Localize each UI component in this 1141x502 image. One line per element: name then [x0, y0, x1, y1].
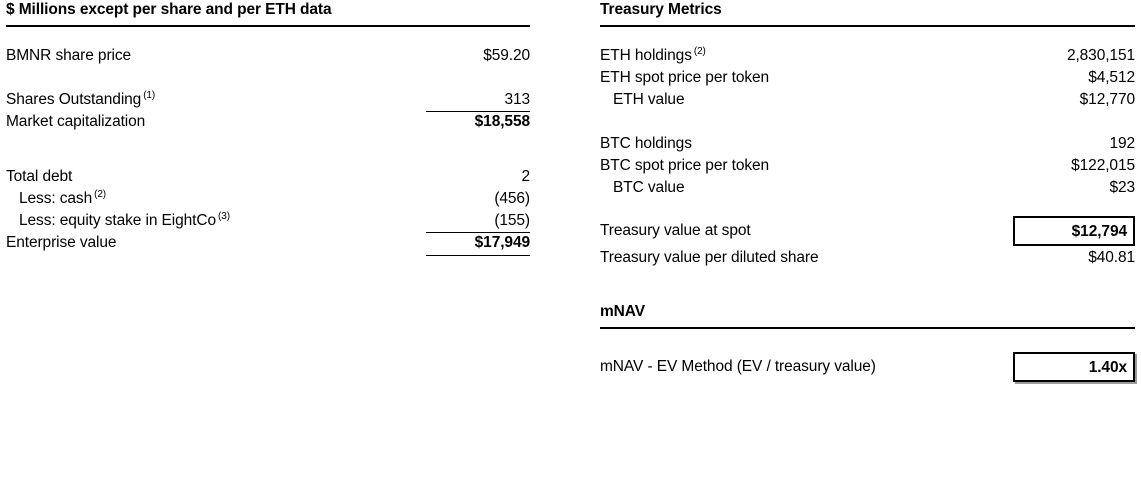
row-label: Less: cash(2): [6, 188, 426, 210]
row-label: Total debt: [6, 166, 426, 188]
row-total-debt: Total debt 2: [6, 166, 530, 188]
row-value: (456): [426, 188, 530, 210]
row-value: $40.81: [1013, 247, 1135, 269]
row-eth-holdings: ETH holdings(2) 2,830,151: [600, 45, 1135, 67]
row-value: (155): [426, 210, 530, 233]
row-btc-holdings: BTC holdings 192: [600, 133, 1135, 155]
row-label: Enterprise value: [6, 232, 426, 254]
spacer: [600, 27, 1135, 45]
mnav-header-text: mNAV: [600, 302, 1135, 324]
treasury-value-at-spot-box: $12,794: [1013, 216, 1135, 246]
row-value: $122,015: [1013, 155, 1135, 177]
row-value: $12,770: [1013, 89, 1135, 111]
treasury-header-text: Treasury Metrics: [600, 0, 1135, 22]
row-label: Treasury value at spot: [600, 215, 1013, 247]
treasury-section-header: Treasury Metrics: [600, 0, 1135, 27]
row-label: Market capitalization: [6, 111, 426, 133]
row-label-text: Less: cash: [19, 190, 92, 207]
spacer: [6, 67, 530, 89]
treasury-panel: Treasury Metrics ETH holdings(2) 2,830,1…: [600, 0, 1135, 383]
spacer: [6, 155, 530, 166]
row-value: $59.20: [426, 45, 530, 67]
footnote-marker: (3): [216, 211, 230, 222]
row-enterprise-value: Enterprise value $17,949: [6, 232, 530, 254]
row-less-cash: Less: cash(2) (456): [6, 188, 530, 210]
row-eth-value: ETH value $12,770: [600, 89, 1135, 111]
capitalization-header-text: $ Millions except per share and per ETH …: [6, 0, 530, 22]
row-value: 2,830,151: [1013, 45, 1135, 67]
row-shares-outstanding: Shares Outstanding(1) 313: [6, 89, 530, 111]
row-less-equity-stake-eightco: Less: equity stake in EightCo(3) (155): [6, 210, 530, 232]
row-mnav-ev-method: mNAV - EV Method (EV / treasury value) 1…: [600, 351, 1135, 383]
mnav-ev-method-box: 1.40x: [1013, 352, 1135, 382]
row-label-text: Less: equity stake in EightCo: [19, 212, 216, 229]
spacer: [6, 27, 530, 45]
footnote-marker: (2): [92, 189, 106, 200]
row-label: Treasury value per diluted share: [600, 247, 1013, 269]
row-btc-spot-price: BTC spot price per token $122,015: [600, 155, 1135, 177]
footnote-marker: (1): [141, 90, 155, 101]
spacer: [600, 199, 1135, 215]
row-value: 192: [1013, 133, 1135, 155]
spacer: [600, 329, 1135, 351]
row-value: $17,949: [426, 233, 530, 256]
row-bmnr-share-price: BMNR share price $59.20: [6, 45, 530, 67]
row-label: Shares Outstanding(1): [6, 89, 426, 111]
row-market-capitalization: Market capitalization $18,558: [6, 111, 530, 133]
row-value: $18,558: [426, 111, 530, 133]
row-label-text: ETH holdings: [600, 47, 692, 64]
row-label-text: Shares Outstanding: [6, 91, 141, 108]
row-label: ETH spot price per token: [600, 67, 1013, 89]
row-treasury-value-per-diluted-share: Treasury value per diluted share $40.81: [600, 247, 1135, 269]
footnote-marker: (2): [692, 46, 706, 57]
row-label: BMNR share price: [6, 45, 426, 67]
row-label: ETH value: [600, 89, 1013, 111]
spacer: [600, 111, 1135, 133]
mnav-section-header: mNAV: [600, 302, 1135, 329]
row-treasury-value-at-spot: Treasury value at spot $12,794: [600, 215, 1135, 247]
row-value: $4,512: [1013, 67, 1135, 89]
capitalization-panel: $ Millions except per share and per ETH …: [6, 0, 530, 254]
row-label: mNAV - EV Method (EV / treasury value): [600, 351, 1013, 383]
row-label: BTC spot price per token: [600, 155, 1013, 177]
row-label: Less: equity stake in EightCo(3): [6, 210, 426, 232]
row-btc-value: BTC value $23: [600, 177, 1135, 199]
row-label: BTC holdings: [600, 133, 1013, 155]
spacer: [600, 269, 1135, 291]
capitalization-section-header: $ Millions except per share and per ETH …: [6, 0, 530, 27]
row-label: ETH holdings(2): [600, 45, 1013, 67]
spacer: [6, 133, 530, 155]
row-value: 2: [426, 166, 530, 188]
row-value: $23: [1013, 177, 1135, 199]
row-label: BTC value: [600, 177, 1013, 199]
row-value: 313: [426, 89, 530, 112]
row-eth-spot-price: ETH spot price per token $4,512: [600, 67, 1135, 89]
spacer: [600, 291, 1135, 302]
